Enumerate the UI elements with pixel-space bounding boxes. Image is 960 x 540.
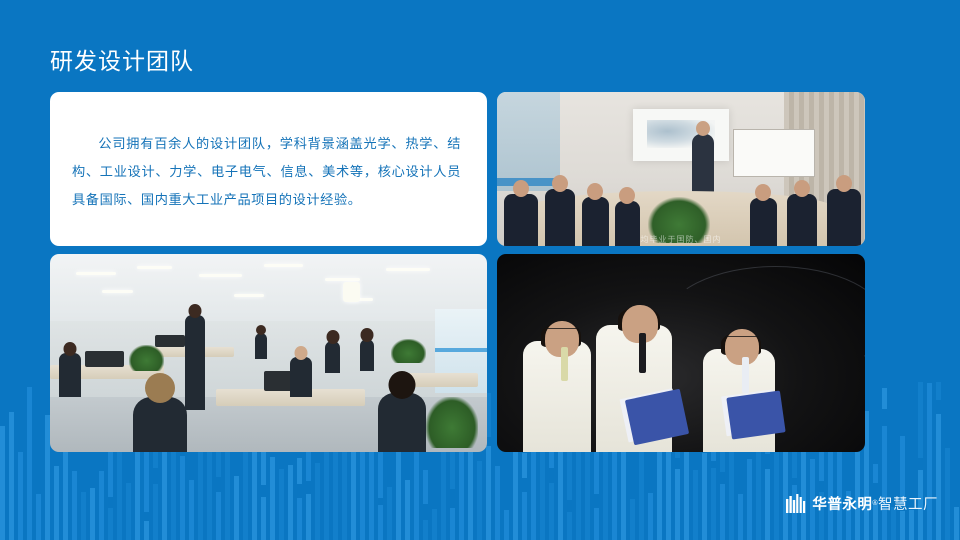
stripe-segment bbox=[297, 498, 302, 540]
stripe-segment bbox=[306, 494, 311, 540]
stripe-segment bbox=[423, 520, 428, 540]
office-worker bbox=[360, 339, 374, 371]
stripe-segment bbox=[873, 464, 878, 483]
office-worker bbox=[185, 315, 205, 410]
bar-chart-building-icon bbox=[786, 494, 806, 513]
meeting-room-presentation-photo: 均毕业于国防、国内 bbox=[497, 92, 865, 246]
stripe-segment bbox=[747, 459, 752, 540]
stripe-segment bbox=[54, 466, 59, 540]
open-plan-office-photo bbox=[50, 254, 487, 452]
stripe-segment bbox=[432, 509, 437, 540]
stripe-segment bbox=[684, 441, 689, 540]
stripe-segment bbox=[612, 439, 617, 540]
stripe-segment bbox=[99, 471, 104, 540]
stripe-segment bbox=[126, 483, 131, 540]
stripe-segment bbox=[234, 476, 239, 540]
engineer-glasses bbox=[725, 336, 759, 341]
stripe-segment bbox=[108, 446, 113, 497]
office-worker bbox=[378, 393, 426, 452]
photo-caption: 均毕业于国防、国内 bbox=[497, 234, 865, 245]
stripe-segment bbox=[918, 382, 923, 458]
stripe-segment bbox=[315, 463, 320, 540]
logo-trademark: ® bbox=[872, 500, 878, 507]
stripe-segment bbox=[522, 492, 527, 540]
stripe-segment bbox=[189, 480, 194, 540]
stripe-segment bbox=[333, 447, 338, 540]
stripe-segment bbox=[738, 494, 743, 540]
engineer-necktie bbox=[561, 347, 568, 381]
ceiling-light bbox=[102, 290, 133, 293]
stripe-segment bbox=[675, 469, 680, 540]
stripe-segment bbox=[495, 466, 500, 540]
stripe-segment bbox=[720, 484, 725, 540]
stripe-segment bbox=[81, 492, 86, 540]
stripe-segment bbox=[387, 487, 392, 540]
ceiling-light bbox=[325, 278, 360, 281]
presenter-figure bbox=[692, 134, 714, 200]
stripe-segment bbox=[702, 453, 707, 540]
stripe-segment bbox=[900, 511, 905, 540]
footer-logo: 华普永明 ® 智慧工厂 bbox=[786, 493, 938, 514]
stripe-segment bbox=[18, 452, 23, 540]
ceiling-light bbox=[264, 264, 303, 267]
stripe-segment bbox=[90, 488, 95, 540]
stripe-segment bbox=[504, 510, 509, 540]
ceiling-light bbox=[234, 294, 265, 297]
pendant-light bbox=[343, 282, 360, 302]
office-scene bbox=[50, 254, 487, 452]
meeting-blue-panel bbox=[497, 92, 560, 191]
stripe-segment bbox=[423, 470, 428, 504]
office-worker bbox=[59, 353, 81, 397]
ceiling-light bbox=[137, 266, 172, 269]
stripe-segment bbox=[252, 438, 257, 540]
content-grid: 公司拥有百余人的设计团队，学科背景涵盖光学、热学、结构、工业设计、力学、电子电气… bbox=[50, 92, 865, 452]
stripe-segment bbox=[954, 507, 959, 540]
stripe-segment bbox=[648, 493, 653, 540]
stripe-segment bbox=[477, 461, 482, 540]
stripe-segment bbox=[927, 383, 932, 540]
stripe-segment bbox=[945, 448, 950, 540]
stripe-segment bbox=[279, 469, 284, 540]
logo-wordmark: 华普永明 ® 智慧工厂 bbox=[812, 493, 938, 514]
engineers-lab-coats-photo bbox=[497, 254, 865, 452]
stripe-segment bbox=[549, 483, 554, 540]
stripe-segment bbox=[450, 508, 455, 540]
stripe-segment bbox=[0, 426, 5, 540]
engineer-lanyard bbox=[742, 357, 749, 393]
stripe-segment bbox=[144, 521, 149, 540]
stripe-segment bbox=[36, 494, 41, 540]
engineer-glasses bbox=[545, 328, 579, 333]
ceiling-light bbox=[199, 274, 243, 277]
description-paragraph: 公司拥有百余人的设计团队，学科背景涵盖光学、热学、结构、工业设计、力学、电子电气… bbox=[50, 92, 487, 214]
stripe-segment bbox=[486, 446, 491, 540]
office-worker bbox=[255, 333, 267, 359]
stripe-segment bbox=[216, 492, 221, 540]
stripe-segment bbox=[180, 456, 185, 540]
office-plant bbox=[129, 345, 164, 371]
stripe-segment bbox=[288, 465, 293, 540]
stripe-segment bbox=[882, 426, 887, 540]
ceiling-light bbox=[386, 268, 430, 271]
stripe-segment bbox=[153, 484, 158, 540]
stripe-segment bbox=[9, 412, 14, 540]
stripe-segment bbox=[297, 458, 302, 484]
projection-screen bbox=[633, 109, 729, 161]
stripe-segment bbox=[405, 480, 410, 540]
stripe-segment bbox=[936, 382, 941, 400]
office-worker bbox=[325, 341, 340, 373]
office-worker bbox=[133, 397, 187, 452]
document-folder bbox=[726, 391, 785, 440]
whiteboard bbox=[733, 129, 816, 177]
office-plant bbox=[391, 339, 426, 363]
stripe-segment bbox=[909, 510, 914, 540]
stripe-segment bbox=[576, 446, 581, 540]
stripe-segment bbox=[72, 471, 77, 540]
stripe-segment bbox=[882, 388, 887, 409]
engineer-coat bbox=[523, 341, 591, 452]
engineers-scene bbox=[497, 254, 865, 452]
stripe-segment bbox=[270, 457, 275, 540]
stripe-segment bbox=[27, 387, 32, 540]
office-plant bbox=[426, 397, 478, 448]
office-worker bbox=[290, 357, 312, 397]
stripe-segment bbox=[630, 499, 635, 540]
stripe-segment bbox=[765, 469, 770, 540]
stripe-segment bbox=[936, 414, 941, 540]
stripe-segment bbox=[693, 470, 698, 540]
stripe-segment bbox=[711, 468, 716, 540]
engineer-necktie bbox=[639, 333, 646, 373]
logo-tagline: 智慧工厂 bbox=[878, 493, 938, 514]
stripe-segment bbox=[108, 508, 113, 540]
logo-brand: 华普永明 bbox=[812, 493, 872, 514]
monitor bbox=[85, 351, 124, 367]
stripe-segment bbox=[720, 452, 725, 472]
stripe-segment bbox=[261, 497, 266, 540]
stripe-segment bbox=[216, 451, 221, 477]
stripe-segment bbox=[378, 505, 383, 540]
stripe-segment bbox=[207, 442, 212, 540]
page-title: 研发设计团队 bbox=[50, 47, 194, 75]
ceiling-light bbox=[76, 272, 115, 275]
stripe-segment bbox=[558, 437, 563, 540]
stripe-segment bbox=[567, 512, 572, 540]
stripe-segment bbox=[522, 453, 527, 478]
stripe-segment bbox=[594, 508, 599, 540]
description-card: 公司拥有百余人的设计团队，学科背景涵盖光学、热学、结构、工业设计、力学、电子电气… bbox=[50, 92, 487, 246]
meeting-room-scene: 均毕业于国防、国内 bbox=[497, 92, 865, 246]
